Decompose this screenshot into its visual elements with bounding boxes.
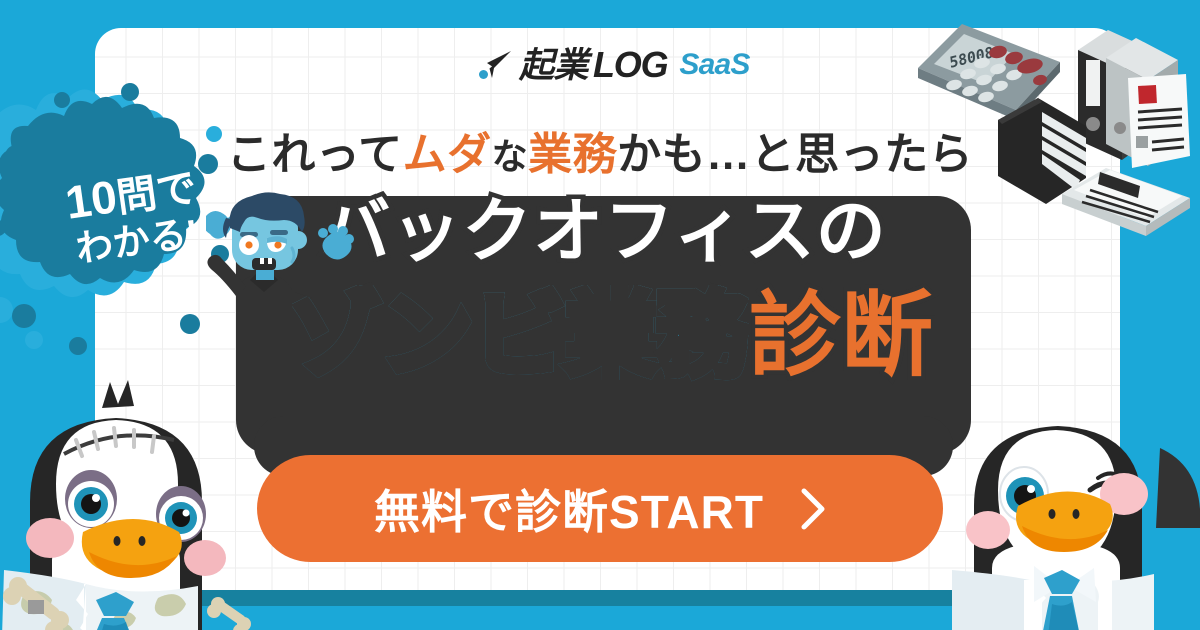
paper-plane-icon — [478, 50, 512, 80]
subheadline-part1: これって — [227, 130, 403, 179]
badge-number: 10 — [62, 170, 120, 229]
subheadline-highlight-muda: ムダ — [403, 130, 492, 179]
zombie-penguin-left — [0, 352, 290, 630]
logo-text-en: LOG — [593, 47, 667, 83]
title-zombie-gyomu: ゾンビ業務 — [289, 285, 749, 387]
logo-text-saas: SaaS — [679, 50, 749, 80]
subheadline-part2: な — [492, 136, 529, 177]
zombie-office-worker — [206, 188, 356, 328]
title-shindan: 診断 — [749, 285, 933, 387]
banner-root: 起業 LOG SaaS これってムダな業務かも…と思ったら — [0, 0, 1200, 630]
healthy-penguin-right — [912, 378, 1200, 630]
office-props-illustration: 58008 — [890, 8, 1200, 240]
subheadline-highlight-gyomu: 業務 — [528, 130, 617, 179]
site-logo[interactable]: 起業 LOG SaaS — [478, 42, 750, 88]
ring-binders-icon — [1078, 30, 1190, 168]
cta-start-button[interactable]: 無料で診断START — [257, 455, 943, 562]
logo-text-jp: 起業 — [519, 48, 588, 83]
cta-label: 無料で診断START — [374, 476, 764, 542]
chevron-right-icon — [800, 488, 826, 530]
